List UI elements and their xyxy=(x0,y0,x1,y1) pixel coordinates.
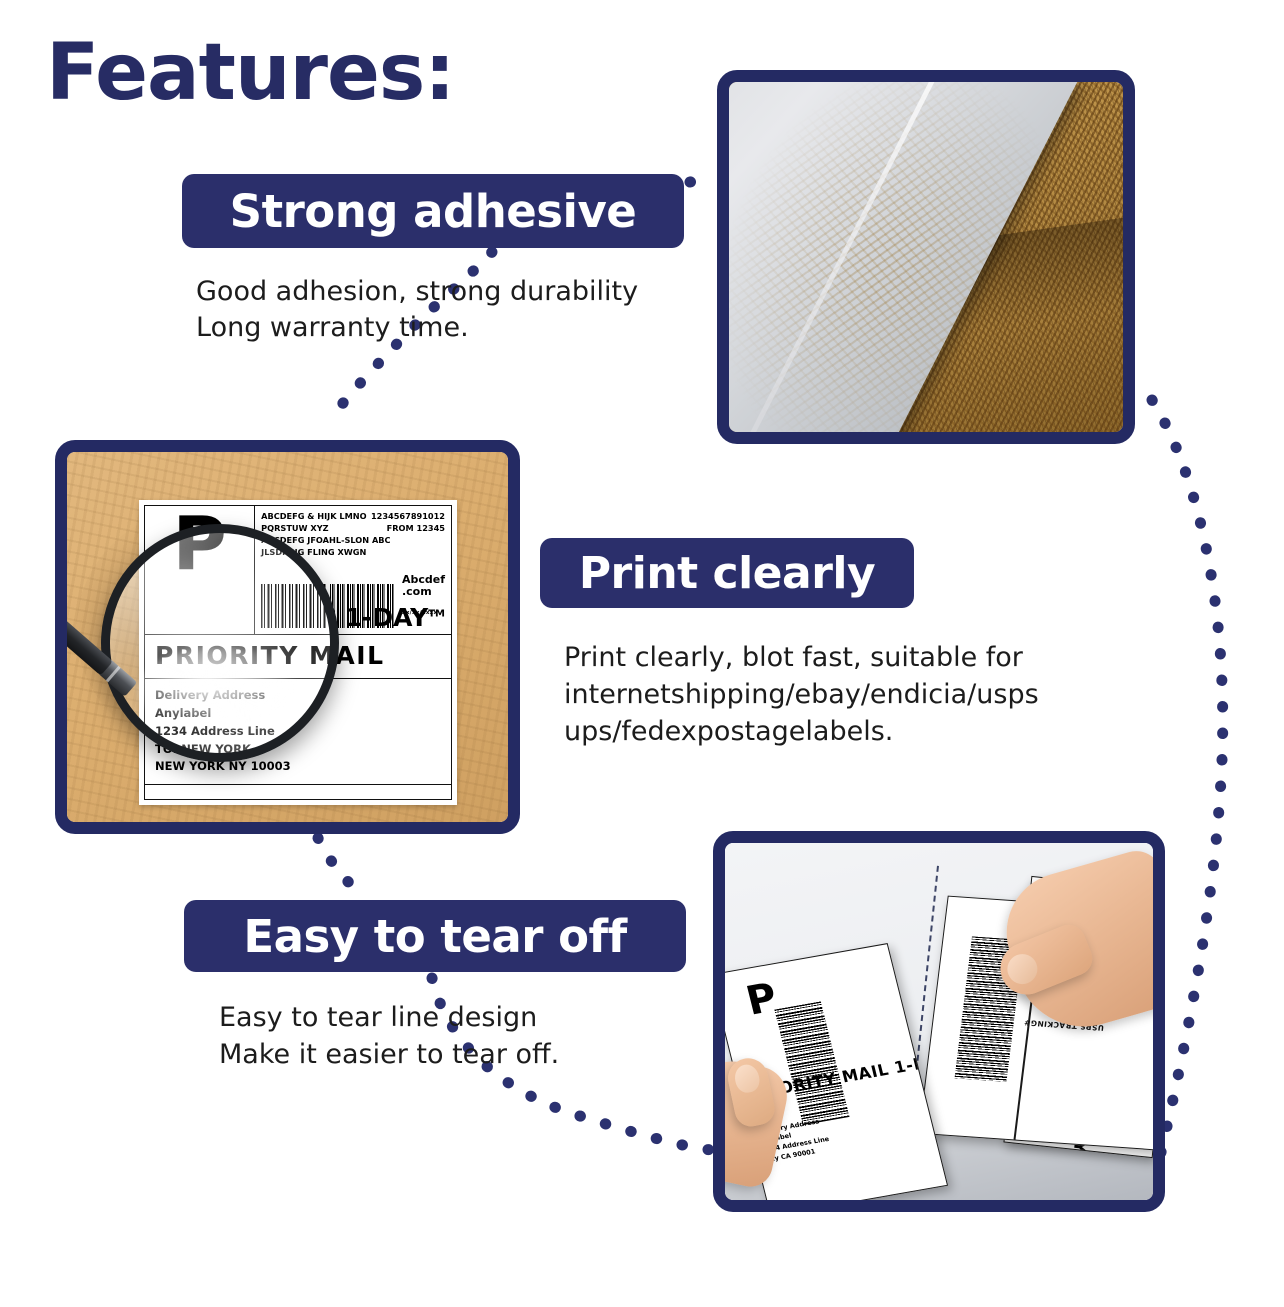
magnifier-lens xyxy=(101,524,339,762)
page-title: Features: xyxy=(46,34,454,112)
photo-easy-to-tear-off: PRIORITY MAIL 1-DAY USPS TRACKING# SHIP … xyxy=(713,831,1165,1212)
feature-body-print-clearly: Print clearly, blot fast, suitable for i… xyxy=(564,640,1039,751)
label-line1-left: ABCDEFG & HIJK LMNO xyxy=(261,511,366,523)
magnifier-glare xyxy=(136,647,303,735)
infographic-page: Features: Strong adhesive Good adhesion,… xyxy=(0,0,1284,1307)
label-footer-strip xyxy=(145,784,451,799)
feature-heading-easy-to-tear-off: Easy to tear off xyxy=(184,900,686,972)
photo-strong-adhesive xyxy=(717,70,1135,444)
label-website: Abcdef .com xyxy=(402,574,445,598)
magnifying-glass-icon xyxy=(101,524,339,762)
label-service-class: 1-DAYTM xyxy=(345,603,445,632)
label-photo-inner: P ABCDEFG & HIJK LMNO 1234567891012 PQRS… xyxy=(67,452,508,822)
label-line2-right: FROM 12345 xyxy=(387,523,445,535)
connector-pill-to-adhesive-photo xyxy=(690,178,714,182)
adhesive-photo-inner xyxy=(729,82,1123,432)
tear-left-barcode xyxy=(775,1001,849,1125)
photo-print-clearly: P ABCDEFG & HIJK LMNO 1234567891012 PQRS… xyxy=(55,440,520,834)
tear-photo-inner: PRIORITY MAIL 1-DAY USPS TRACKING# SHIP … xyxy=(725,843,1153,1200)
feature-heading-print-clearly: Print clearly xyxy=(540,538,914,608)
connector-label-photo-to-tear-pill xyxy=(318,838,368,898)
feature-body-strong-adhesive: Good adhesion, strong durability Long wa… xyxy=(196,274,638,346)
feature-heading-strong-adhesive: Strong adhesive xyxy=(182,174,684,248)
feature-body-easy-to-tear-off: Easy to tear line design Make it easier … xyxy=(219,1000,559,1074)
label-service-text: 1-DAY xyxy=(345,603,429,632)
label-line1-right: 1234567891012 xyxy=(371,511,445,523)
label-service-tm: TM xyxy=(428,609,445,620)
